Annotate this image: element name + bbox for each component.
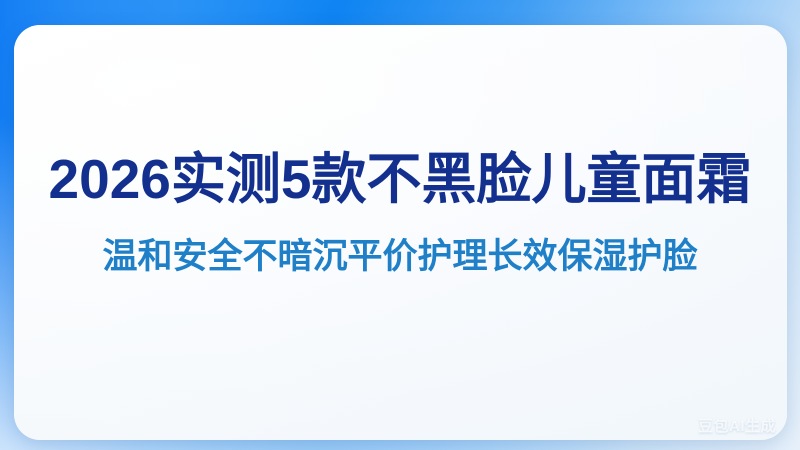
ai-generated-watermark: 豆包AI生成 [698,415,776,436]
poster-subheadline: 温和安全不暗沉平价护理长效保湿护脸 [0,209,800,277]
poster-headline: 2026实测5款不黑脸儿童面霜 [0,150,800,209]
promo-poster: 2026实测5款不黑脸儿童面霜 温和安全不暗沉平价护理长效保湿护脸 豆包AI生成 [0,0,800,450]
poster-text-block: 2026实测5款不黑脸儿童面霜 温和安全不暗沉平价护理长效保湿护脸 [0,150,800,277]
